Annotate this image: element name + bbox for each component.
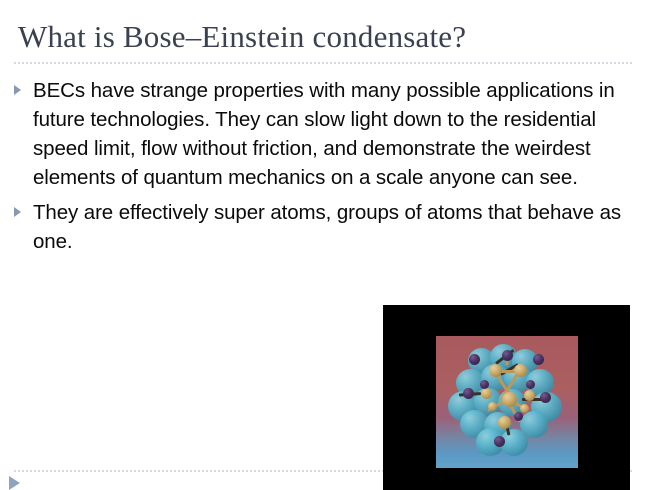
list-item-text: BECs have strange properties with many p… [33, 76, 634, 192]
list-item: BECs have strange properties with many p… [12, 76, 634, 192]
triangle-bullet-icon [14, 85, 21, 95]
triangle-bullet-icon [14, 207, 21, 217]
bullet-list: BECs have strange properties with many p… [12, 76, 634, 262]
page-title: What is Bose–Einstein condensate? [18, 18, 628, 56]
molecule-graphic [436, 336, 578, 468]
molecule-image-panel [436, 336, 578, 468]
list-item: They are effectively super atoms, groups… [12, 198, 634, 256]
slide: What is Bose–Einstein condensate? BECs h… [0, 0, 646, 490]
title-divider [14, 62, 632, 64]
play-triangle-icon[interactable] [9, 476, 20, 490]
list-item-text: They are effectively super atoms, groups… [33, 198, 634, 256]
molecule-image [383, 305, 630, 490]
